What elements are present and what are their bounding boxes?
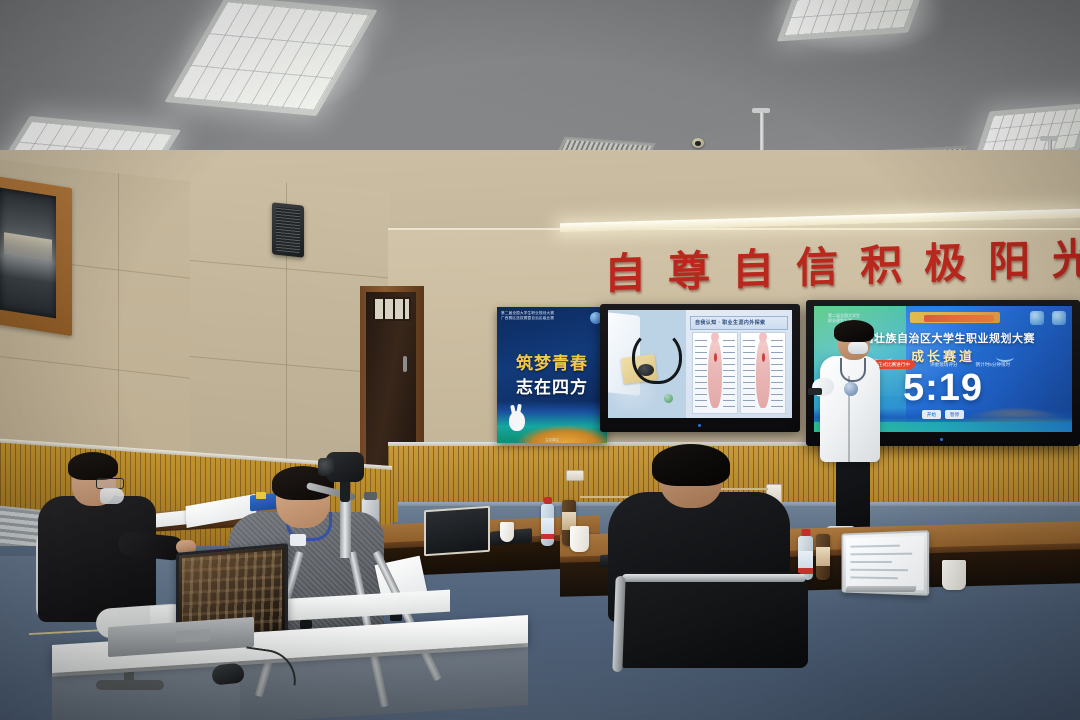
slogan-char-2: 尊 xyxy=(668,251,710,294)
display-logo-icon-2 xyxy=(1052,311,1066,325)
paper-cup-2 xyxy=(942,560,966,590)
slogan-char-3: 自 xyxy=(732,249,774,292)
bottle-label-4 xyxy=(816,547,830,566)
camera-lens-icon xyxy=(318,458,334,476)
presenter-hair xyxy=(834,320,874,342)
smoke-detector-icon xyxy=(692,138,704,148)
slide-photo-dot xyxy=(664,394,673,403)
presenter-legs xyxy=(836,458,870,532)
judge-right-chair[interactable] xyxy=(618,572,808,668)
presenter-clicker[interactable] xyxy=(808,388,822,395)
banner-title-line2: 志在四方 xyxy=(497,373,607,398)
banner-header: 第二届全国大学生职业规划大赛 广西赛区选拔赛暨自治区级比赛 xyxy=(501,311,575,327)
bottle-label-1 xyxy=(541,518,554,534)
judge-left-body xyxy=(38,496,156,622)
door-transom-window xyxy=(371,297,411,321)
display-logo-icon-1 xyxy=(1030,311,1044,325)
tablet-on-middle-table[interactable] xyxy=(424,506,490,557)
presenter-face-mask xyxy=(848,342,868,354)
slogan-char-6: 极 xyxy=(924,243,966,286)
slogan-char-4: 信 xyxy=(796,247,838,290)
beverage-bottle-4 xyxy=(816,534,830,580)
bottle-cap-1 xyxy=(544,497,552,504)
banner-title-line1: 筑梦青春 xyxy=(497,349,607,374)
bottle-label-band-1 xyxy=(541,534,554,539)
slogan-char-8: 光 xyxy=(1052,239,1080,282)
slogan-char-1: 自 xyxy=(604,253,646,296)
slide-title-box: 自我认知 · 职业生涯内外探索 xyxy=(690,316,788,330)
anatomy-panel-2 xyxy=(740,332,786,414)
banner-header-line2: 广西赛区选拔赛暨自治区级比赛 xyxy=(501,316,575,321)
slogan-char-7: 阳 xyxy=(988,241,1030,284)
judge-left-face-mask xyxy=(100,488,124,504)
presenter-badge xyxy=(844,382,858,396)
slide-title: 自我认知 · 职业生涯内外探索 xyxy=(695,319,765,326)
slogan-char-5: 积 xyxy=(860,245,902,288)
judge-left-hair xyxy=(68,452,118,480)
banner-mascot-icon xyxy=(509,411,525,431)
judge-right-hair xyxy=(652,444,730,486)
display-logos xyxy=(1030,311,1066,325)
tripod-center-column xyxy=(340,500,351,558)
judge-right-chair-frame xyxy=(622,574,806,582)
laptop-trackpad[interactable] xyxy=(176,629,210,643)
presenter-lanyard xyxy=(840,358,866,382)
wall-speaker-icon xyxy=(272,202,304,257)
paper-cup-3 xyxy=(500,522,514,542)
judge-tablet-screen xyxy=(846,536,924,591)
bottle-label-3 xyxy=(798,551,813,568)
anatomy-panel-1 xyxy=(692,332,738,414)
ceiling-light-panel-4 xyxy=(980,108,1080,156)
classroom-scene: 自 尊 自 信 积 极 阳 光 第二届全国大学生职业规划大赛 广西赛区选拔赛暨自… xyxy=(0,0,1080,720)
judge-tablet-stand xyxy=(845,586,917,592)
presentation-display[interactable]: 自我认知 · 职业生涯内外探索 xyxy=(608,310,792,418)
stethoscope-icon xyxy=(632,330,682,384)
timer-start-button[interactable]: 开始 xyxy=(922,410,941,419)
paper-cup-1 xyxy=(570,526,589,552)
left-stage-banner: 第二届全国大学生职业规划大赛 广西赛区选拔赛暨自治区级比赛 筑梦青春 志在四方 … xyxy=(497,307,607,443)
blue-device-indicator xyxy=(256,492,266,499)
ceiling-light-panel-3 xyxy=(784,0,925,36)
display-power-led-2 xyxy=(940,438,943,441)
timer-pause-button[interactable]: 暂停 xyxy=(945,410,964,419)
water-bottle-1 xyxy=(541,504,554,546)
thermos-cap xyxy=(364,492,377,500)
tripod-lock-1[interactable] xyxy=(300,620,312,629)
bottle-cap-3 xyxy=(801,529,810,536)
door-handle[interactable] xyxy=(403,356,407,372)
camera-operator-badge xyxy=(290,534,306,546)
banner-footer: 主办单位 xyxy=(497,437,607,442)
stethoscope-bell-icon xyxy=(638,364,654,376)
display-power-led-1 xyxy=(698,424,701,427)
display-ribbon-2 xyxy=(924,315,994,322)
